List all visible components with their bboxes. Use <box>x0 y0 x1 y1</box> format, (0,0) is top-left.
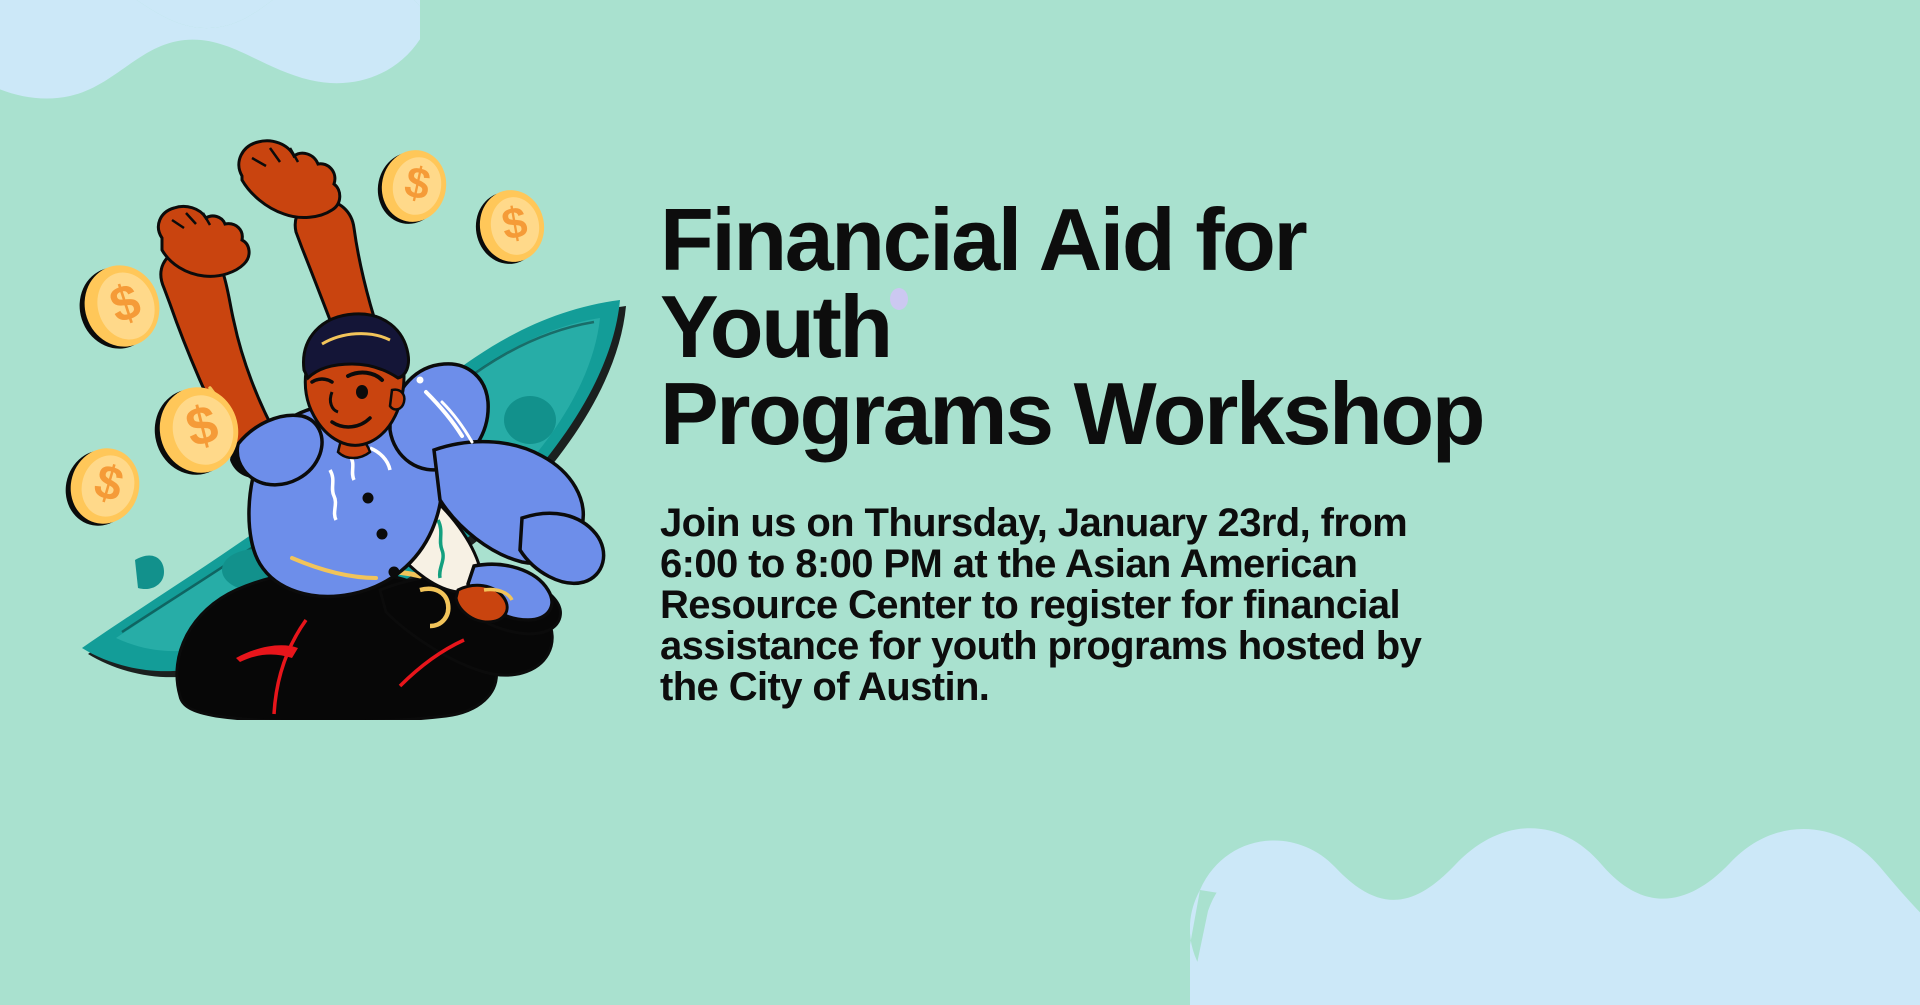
blob-wave-bottom-right-icon <box>1190 715 1920 1005</box>
dollar-coin: $ <box>371 144 453 230</box>
event-description: Join us on Thursday, January 23rd, from … <box>660 457 1460 707</box>
text-column: Financial Aid for Youth Programs Worksho… <box>660 196 1540 707</box>
dollar-coin: $ <box>60 440 148 534</box>
bill-circle-detail <box>504 396 556 444</box>
page-title: Financial Aid for Youth Programs Worksho… <box>660 196 1540 457</box>
dollar-coin: $ <box>69 256 170 359</box>
poster-canvas: $ $ $ $ <box>0 0 1920 1005</box>
dollar-coin: $ <box>470 185 550 269</box>
person-riding-dollar-bill-illustration: $ $ $ $ <box>60 120 680 720</box>
cloud-wave-top-left-icon <box>0 0 420 140</box>
